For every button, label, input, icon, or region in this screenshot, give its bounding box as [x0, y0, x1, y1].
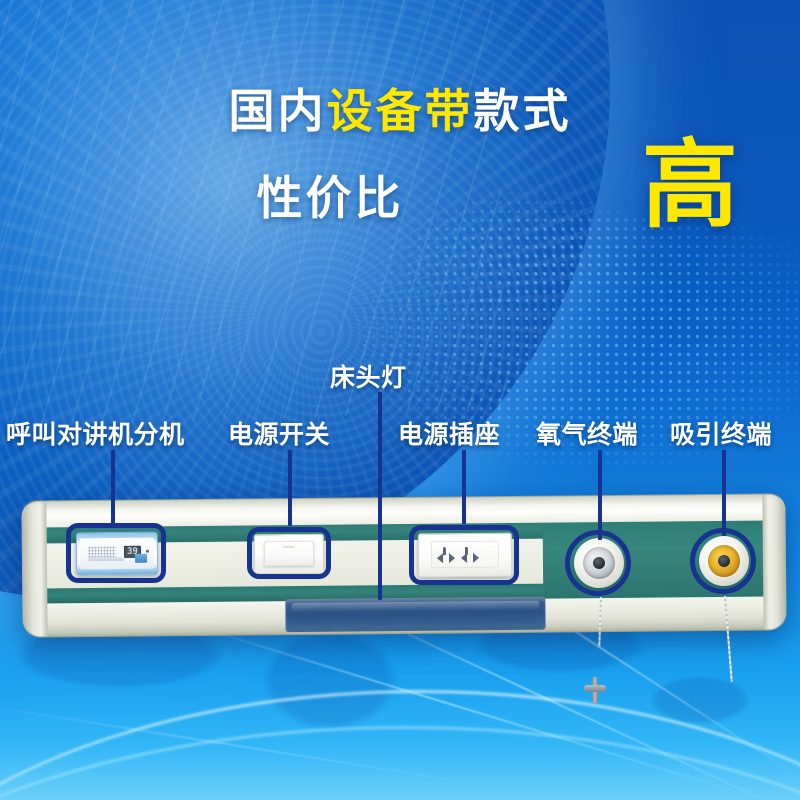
label-bedside-lamp: 床头灯	[330, 358, 407, 394]
leader-line-suction-terminal	[722, 450, 726, 536]
unit-left-end-cap	[22, 501, 47, 637]
leader-line-intercom	[111, 450, 115, 528]
leader-line-power-switch	[288, 450, 292, 526]
leader-line-bedside-lamp	[378, 392, 382, 600]
dotted-world-map-secondary	[370, 180, 670, 310]
label-power-switch: 电源开关	[228, 415, 330, 451]
callout-ring-suction	[690, 528, 756, 594]
banner-stage: 国内设备带款式 性价比 高 呼叫对讲机分机 电源开关 床头灯 电源插座 氧气终端…	[0, 0, 800, 800]
leader-line-oxygen-terminal	[598, 450, 602, 540]
callout-frame-intercom	[66, 523, 166, 583]
label-oxygen-terminal: 氧气终端	[536, 415, 638, 451]
headline-emphasis-gao: 高	[642, 138, 738, 234]
callout-ring-oxygen	[565, 530, 631, 596]
pull-cord-weight	[584, 677, 606, 703]
label-suction-terminal: 吸引终端	[670, 415, 772, 451]
label-intercom: 呼叫对讲机分机	[6, 415, 185, 451]
unit-right-end-cap	[762, 494, 785, 631]
pull-cord-weight-horizontal	[584, 685, 606, 692]
label-power-socket: 电源插座	[398, 415, 500, 451]
callout-frame-power-socket	[409, 525, 519, 585]
callout-frame-power-switch	[247, 527, 331, 579]
leader-line-power-socket	[462, 450, 466, 524]
